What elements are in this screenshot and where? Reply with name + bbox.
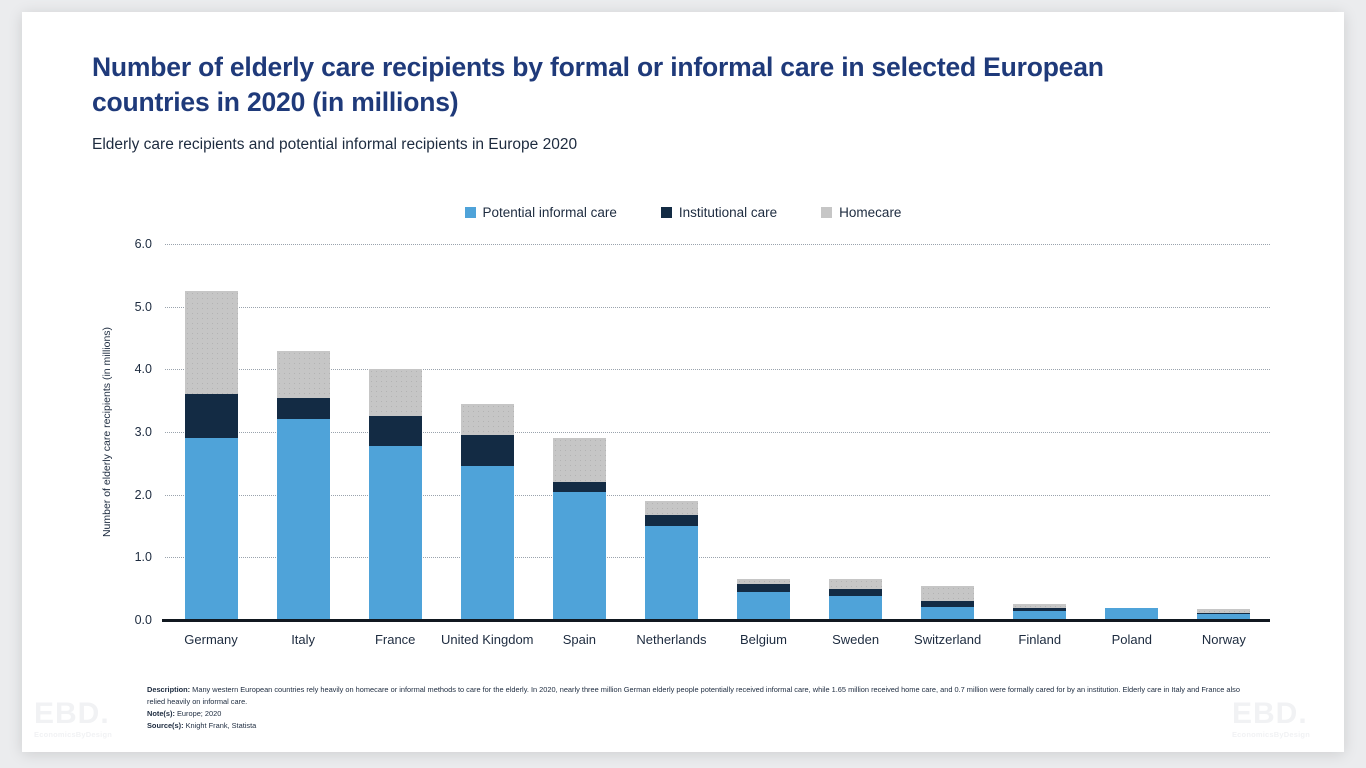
y-axis-tick-label: 3.0 (135, 425, 152, 439)
bar-segment-institutional[interactable] (737, 584, 790, 592)
bar-segment-informal[interactable] (277, 419, 330, 620)
bar-segment-institutional[interactable] (553, 482, 606, 491)
bar-group[interactable]: Germany (165, 244, 257, 620)
x-axis-tick-label: Norway (1168, 632, 1280, 648)
legend-label: Potential informal care (483, 205, 617, 220)
watermark-logo-text: EBD. (34, 699, 112, 729)
stacked-bar[interactable] (553, 438, 606, 620)
bar-segment-institutional[interactable] (461, 435, 514, 466)
y-axis-tick-label: 2.0 (135, 488, 152, 502)
bar-segment-homecare[interactable] (829, 579, 882, 588)
x-axis-line (162, 619, 1270, 622)
bar-segment-informal[interactable] (829, 596, 882, 620)
footnote-notes: Note(s): Europe; 2020 (147, 708, 1257, 720)
chart-card: EBD. EconomicsByDesign EBD. EconomicsByD… (22, 12, 1344, 752)
legend-item[interactable]: Institutional care (661, 205, 777, 220)
bar-segment-homecare[interactable] (461, 404, 514, 435)
chart-subtitle: Elderly care recipients and potential in… (92, 136, 1272, 154)
y-axis-tick-label: 6.0 (135, 237, 152, 251)
stacked-bar[interactable] (461, 404, 514, 620)
bar-segment-institutional[interactable] (185, 394, 238, 438)
bar-group[interactable]: Spain (533, 244, 625, 620)
bar-segment-institutional[interactable] (277, 398, 330, 420)
bar-group[interactable]: Netherlands (625, 244, 717, 620)
footnote-description-label: Description: (147, 685, 190, 694)
plot-area: Number of elderly care recipients (in mi… (165, 244, 1270, 620)
stacked-bar[interactable] (645, 501, 698, 620)
stacked-bar[interactable] (277, 351, 330, 620)
legend-item[interactable]: Potential informal care (465, 205, 617, 220)
bar-segment-homecare[interactable] (277, 351, 330, 398)
bar-segment-institutional[interactable] (369, 416, 422, 445)
bar-series-container: GermanyItalyFranceUnited KingdomSpainNet… (165, 244, 1270, 620)
bar-segment-informal[interactable] (645, 526, 698, 620)
bar-group[interactable]: Norway (1178, 244, 1270, 620)
bar-group[interactable]: United Kingdom (441, 244, 533, 620)
bar-group[interactable]: Belgium (717, 244, 809, 620)
chart-legend: Potential informal careInstitutional car… (22, 205, 1344, 220)
legend-item[interactable]: Homecare (821, 205, 901, 220)
bar-segment-informal[interactable] (737, 592, 790, 620)
bar-segment-homecare[interactable] (185, 291, 238, 394)
stacked-bar[interactable] (369, 369, 422, 620)
stacked-bar[interactable] (1013, 604, 1066, 620)
chart-header: Number of elderly care recipients by for… (92, 50, 1272, 154)
footnote-notes-label: Note(s): (147, 709, 175, 718)
bar-group[interactable]: Poland (1086, 244, 1178, 620)
bar-group[interactable]: Italy (257, 244, 349, 620)
stacked-bar[interactable] (921, 586, 974, 620)
bar-segment-informal[interactable] (369, 446, 422, 620)
legend-swatch-icon (465, 207, 476, 218)
footnote-source-text: Knight Frank, Statista (184, 721, 257, 730)
bar-group[interactable]: Finland (994, 244, 1086, 620)
footnote-source: Source(s): Knight Frank, Statista (147, 720, 1257, 732)
legend-swatch-icon (821, 207, 832, 218)
bar-segment-institutional[interactable] (645, 515, 698, 526)
bar-segment-informal[interactable] (553, 492, 606, 620)
y-axis-tick-label: 5.0 (135, 300, 152, 314)
footnotes: Description: Many western European count… (147, 684, 1257, 732)
bar-segment-informal[interactable] (185, 438, 238, 620)
watermark-tagline: EconomicsByDesign (34, 731, 112, 739)
footnote-description: Description: Many western European count… (147, 684, 1257, 708)
stacked-bar[interactable] (829, 579, 882, 620)
footnote-source-label: Source(s): (147, 721, 184, 730)
y-axis-tick-label: 4.0 (135, 362, 152, 376)
bar-segment-homecare[interactable] (645, 501, 698, 515)
stacked-bar[interactable] (737, 579, 790, 620)
bar-segment-homecare[interactable] (369, 369, 422, 416)
page-title: Number of elderly care recipients by for… (92, 50, 1222, 120)
legend-label: Institutional care (679, 205, 777, 220)
stacked-bar[interactable] (185, 291, 238, 620)
bar-segment-homecare[interactable] (921, 586, 974, 602)
y-axis-tick-label: 0.0 (135, 613, 152, 627)
y-axis-tick-label: 1.0 (135, 550, 152, 564)
bar-group[interactable]: Sweden (810, 244, 902, 620)
bar-group[interactable]: France (349, 244, 441, 620)
legend-swatch-icon (661, 207, 672, 218)
watermark-left: EBD. EconomicsByDesign (34, 699, 112, 739)
footnote-description-text: Many western European countries rely hea… (147, 685, 1240, 706)
y-axis-title: Number of elderly care recipients (in mi… (101, 327, 113, 537)
bar-segment-homecare[interactable] (553, 438, 606, 482)
bar-segment-institutional[interactable] (829, 589, 882, 597)
bar-segment-informal[interactable] (461, 466, 514, 620)
legend-label: Homecare (839, 205, 901, 220)
bar-group[interactable]: Switzerland (902, 244, 994, 620)
footnote-notes-text: Europe; 2020 (175, 709, 221, 718)
